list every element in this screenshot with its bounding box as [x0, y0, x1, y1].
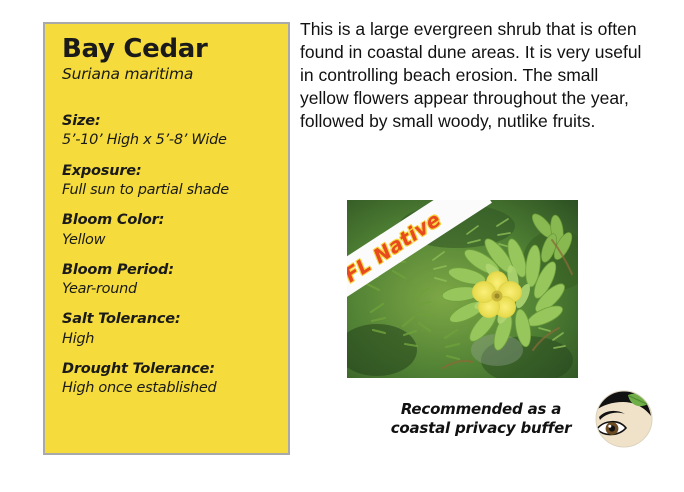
attribute-value: High [62, 330, 274, 348]
attribute-label: Exposure: [62, 163, 274, 180]
plant-spec-card: Bay Cedar Suriana maritima Size: 5’-10’ … [43, 22, 290, 455]
attribute-value: Full sun to partial shade [62, 181, 274, 199]
attribute-label: Salt Tolerance: [62, 311, 274, 328]
attribute-label: Size: [62, 113, 274, 130]
scientific-name: Suriana maritima [62, 65, 274, 83]
page-title: Bay Cedar [62, 35, 274, 63]
attribute-value: Year-round [62, 280, 274, 298]
attribute-row-bloom-period: Bloom Period: Year-round [62, 262, 274, 299]
attribute-row-exposure: Exposure: Full sun to partial shade [62, 163, 274, 200]
attribute-label: Bloom Period: [62, 262, 274, 279]
attribute-row-drought-tolerance: Drought Tolerance: High once established [62, 361, 274, 398]
recommendation-line-1: Recommended as a [373, 400, 589, 419]
attribute-row-salt-tolerance: Salt Tolerance: High [62, 311, 274, 348]
spec-card-content: Bay Cedar Suriana maritima Size: 5’-10’ … [45, 24, 288, 397]
attribute-row-size: Size: 5’-10’ High x 5’-8’ Wide [62, 113, 274, 150]
plant-description: This is a large evergreen shrub that is … [300, 18, 650, 133]
attribute-list: Size: 5’-10’ High x 5’-8’ Wide Exposure:… [62, 113, 274, 397]
attribute-value: High once established [62, 379, 274, 397]
plant-photo-image [347, 200, 578, 378]
attribute-value: 5’-10’ High x 5’-8’ Wide [62, 131, 274, 149]
attribute-label: Bloom Color: [62, 212, 274, 229]
recommendation-line-2: coastal privacy buffer [373, 419, 589, 438]
plant-photo: FL Native [347, 200, 578, 378]
recommendation-block: Recommended as a coastal privacy buffer [373, 390, 653, 448]
description-column: This is a large evergreen shrub that is … [300, 18, 670, 133]
attribute-label: Drought Tolerance: [62, 361, 274, 378]
brand-logo-icon [595, 390, 653, 448]
attribute-row-bloom-color: Bloom Color: Yellow [62, 212, 274, 249]
attribute-value: Yellow [62, 231, 274, 249]
recommendation-text: Recommended as a coastal privacy buffer [373, 400, 589, 438]
